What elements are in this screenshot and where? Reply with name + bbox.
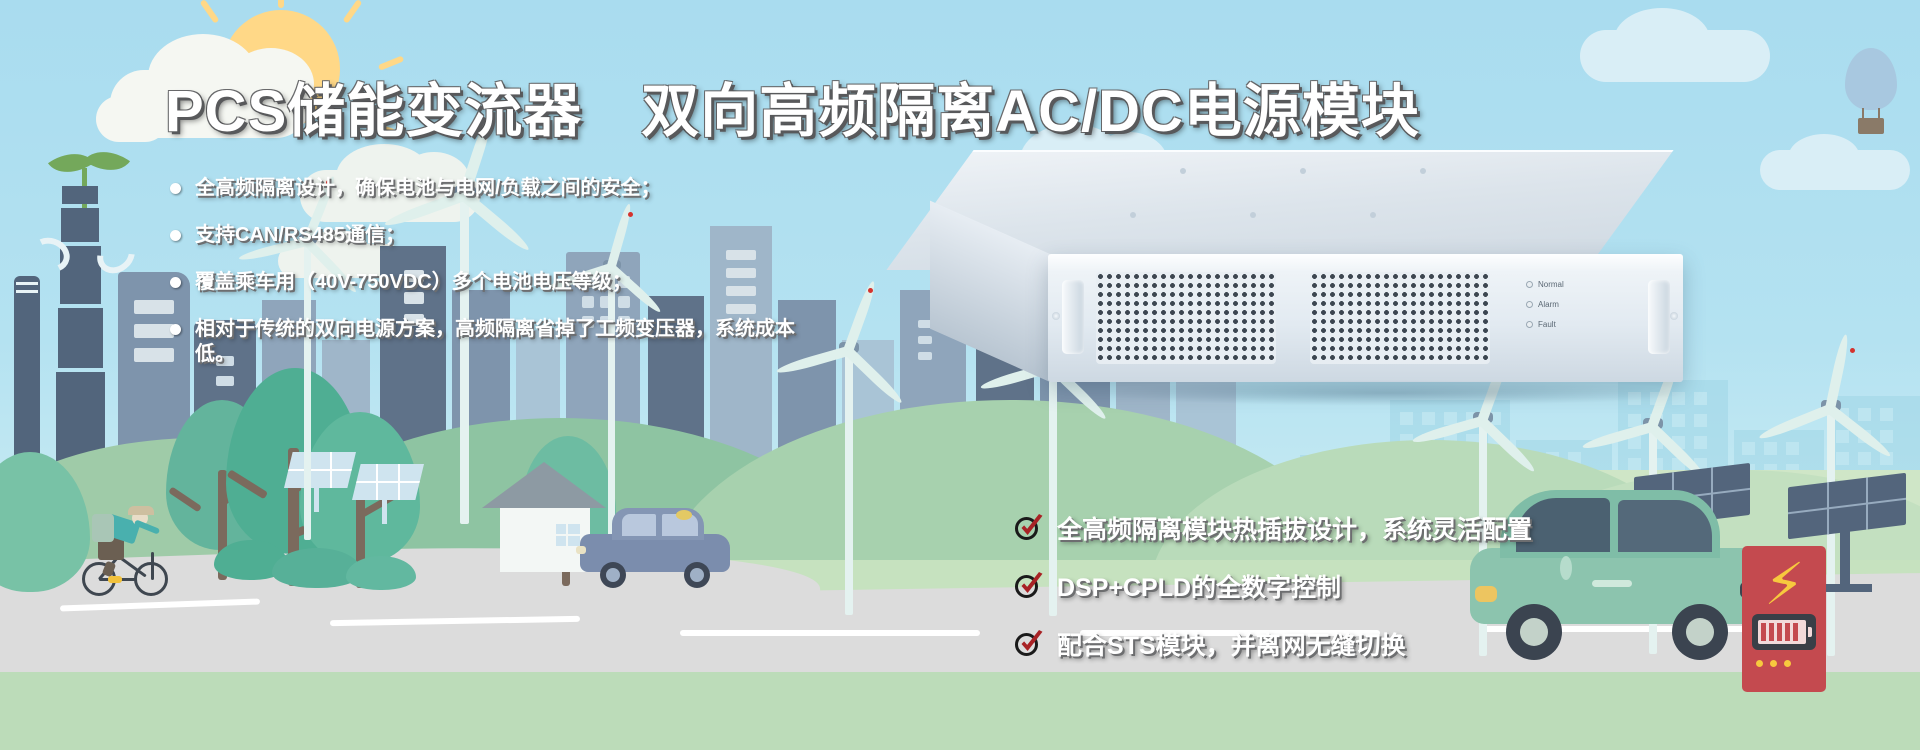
feature-item: 全高频隔离设计，确保电池与电网/负载之间的安全； (170, 176, 830, 201)
highlight-item-label: DSP+CPLD的全数字控制 (1057, 568, 1341, 604)
feature-list: 全高频隔离设计，确保电池与电网/负载之间的安全； 支持CAN/RS485通信； … (170, 176, 830, 389)
product-device-image: Normal Alarm Fault (930, 150, 1690, 400)
led-label-fault: Fault (1538, 320, 1556, 329)
feature-item-label: 全高频隔离设计，确保电池与电网/负载之间的安全； (195, 176, 830, 201)
feature-item: 支持CAN/RS485通信； (170, 223, 830, 248)
page-title: PCS储能变流器 双向高频隔离AC/DC电源模块 (165, 64, 1420, 148)
bullet-dot-icon (170, 183, 181, 194)
highlight-item: DSP+CPLD的全数字控制 (1015, 568, 1532, 604)
highlight-item: 全高频隔离模块热插拔设计，系统灵活配置 (1015, 510, 1532, 546)
led-label-normal: Normal (1538, 280, 1564, 289)
feature-item-label: 相对于传统的双向电源方案，高频隔离省掉了工频变压器，系统成本低。 (195, 317, 830, 367)
highlight-item-label: 配合STS模块，并离网无缝切换 (1057, 626, 1406, 662)
bullet-dot-icon (170, 324, 181, 335)
highlight-item: 配合STS模块，并离网无缝切换 (1015, 626, 1532, 662)
highlight-list: 全高频隔离模块热插拔设计，系统灵活配置 DSP+CPLD的全数字控制 配合STS… (1015, 510, 1532, 684)
led-indicator-icon (1526, 321, 1533, 328)
led-indicator-icon (1526, 301, 1533, 308)
red-check-circle-icon (1015, 513, 1045, 543)
bullet-dot-icon (170, 230, 181, 241)
highlight-item-label: 全高频隔离模块热插拔设计，系统灵活配置 (1057, 510, 1532, 546)
bullet-dot-icon (170, 277, 181, 288)
lightning-bolt-icon: ⚡ (1764, 556, 1805, 614)
led-label-alarm: Alarm (1538, 300, 1559, 309)
promo-banner: ⚡ Normal (0, 0, 1920, 750)
feature-item: 覆盖乘车用（40V-750VDC）多个电池电压等级； (170, 270, 830, 295)
red-check-circle-icon (1015, 571, 1045, 601)
led-indicator-icon (1526, 281, 1533, 288)
device-front-panel: Normal Alarm Fault (1048, 254, 1683, 382)
feature-item-label: 支持CAN/RS485通信； (195, 223, 830, 248)
feature-item: 相对于传统的双向电源方案，高频隔离省掉了工频变压器，系统成本低。 (170, 317, 830, 367)
battery-icon (1752, 614, 1816, 650)
feature-item-label: 覆盖乘车用（40V-750VDC）多个电池电压等级； (195, 270, 830, 295)
red-check-circle-icon (1015, 629, 1045, 659)
